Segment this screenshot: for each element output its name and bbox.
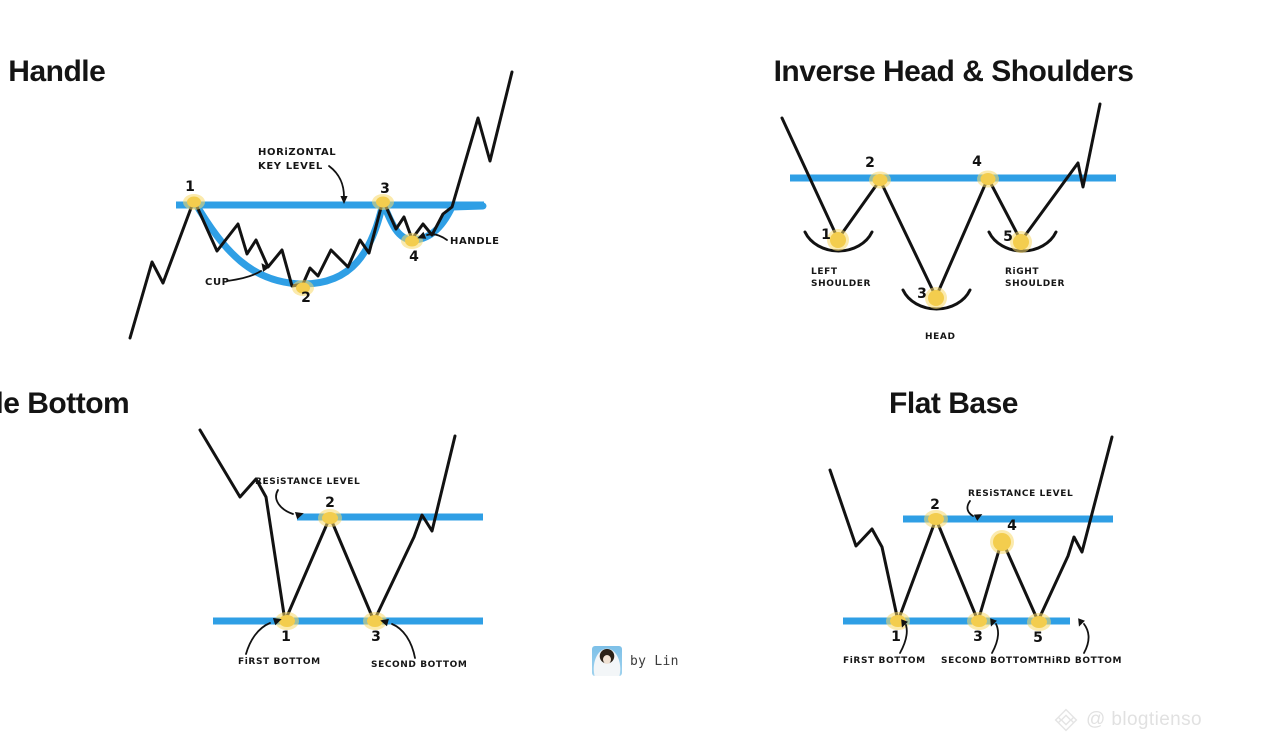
annotation-arrow-resistance bbox=[967, 501, 973, 516]
annotation-resistance-level-label: RESiSTANCE LEVEL bbox=[255, 477, 360, 487]
panel-title-double-bottom: Double Bottom bbox=[0, 387, 345, 421]
point-label-4: 4 bbox=[972, 154, 982, 170]
point-label-3: 3 bbox=[973, 629, 983, 645]
point-label-5: 5 bbox=[1003, 229, 1013, 245]
watermark: @ blogtienso bbox=[1053, 707, 1202, 733]
annotation-horizontal-key-level-line1: HORiZONTAL bbox=[258, 147, 336, 158]
point-label-2: 2 bbox=[301, 290, 311, 306]
chart-double-bottom: 1 2 3 RESiSTANCE LEVEL FiRST BOTTOM SECO… bbox=[0, 372, 640, 745]
annotation-third-bottom-label: THiRD BOTTOM bbox=[1037, 656, 1122, 666]
annotation-arrow-key-level bbox=[329, 166, 344, 197]
point-label-3: 3 bbox=[380, 181, 390, 197]
point-label-4: 4 bbox=[1007, 518, 1017, 534]
arrowhead-third-bottom-fb bbox=[1076, 618, 1085, 628]
point-label-3: 3 bbox=[371, 629, 381, 645]
annotation-arrow-second-bottom-fb bbox=[992, 624, 998, 653]
patterns-board: Cup & Handle bbox=[0, 0, 1267, 745]
point-label-4: 4 bbox=[409, 249, 419, 265]
point-label-1: 1 bbox=[185, 179, 195, 195]
annotation-cup-label: CUP bbox=[205, 277, 230, 288]
annotation-arrow-second-bottom bbox=[392, 624, 415, 658]
credit-block: by Lin bbox=[592, 646, 679, 676]
annotation-resistance-level-label: RESiSTANCE LEVEL bbox=[968, 489, 1073, 499]
user-avatar-icon bbox=[592, 646, 622, 676]
annotation-first-bottom-label: FiRST BOTTOM bbox=[843, 656, 926, 666]
annotation-head-label: HEAD bbox=[925, 332, 956, 342]
panel-title-cup-and-handle: Cup & Handle bbox=[0, 55, 330, 89]
panel-title-inverse-head-and-shoulders: Inverse Head & Shoulders bbox=[640, 55, 1267, 89]
diamond-logo-icon bbox=[1053, 707, 1079, 733]
point-label-1: 1 bbox=[891, 629, 901, 645]
panel-inverse-head-and-shoulders: Inverse Head & Shoulders bbox=[640, 0, 1267, 372]
panel-flat-base: Flat Base 1 2 bbox=[640, 372, 1267, 745]
annotation-handle-label: HANDLE bbox=[450, 236, 500, 247]
point-label-5: 5 bbox=[1033, 630, 1043, 646]
annotation-second-bottom-label: SECOND BOTTOM bbox=[941, 656, 1037, 666]
point-label-2: 2 bbox=[865, 155, 875, 171]
annotation-arrow-first-bottom bbox=[246, 623, 270, 654]
panel-title-flat-base: Flat Base bbox=[640, 387, 1267, 421]
price-line bbox=[830, 437, 1112, 621]
point-label-1: 1 bbox=[821, 227, 831, 243]
annotation-horizontal-key-level-line2: KEY LEVEL bbox=[258, 161, 323, 172]
annotation-right-shoulder-line2: SHOULDER bbox=[1005, 279, 1065, 289]
panel-double-bottom: Double Bottom 1 2 3 RESiSTANCE LEV bbox=[0, 372, 640, 745]
annotation-arrow-resistance bbox=[276, 490, 293, 514]
point-label-2: 2 bbox=[930, 497, 940, 513]
annotation-arrow-third-bottom-fb bbox=[1084, 624, 1089, 653]
annotation-left-shoulder-line2: SHOULDER bbox=[811, 279, 871, 289]
annotation-right-shoulder-line1: RiGHT bbox=[1005, 267, 1039, 277]
point-label-3: 3 bbox=[917, 286, 927, 302]
point-markers bbox=[886, 510, 1051, 631]
chart-flat-base: 1 2 3 4 5 RESiSTANCE LEVEL FiRST BOTTOM … bbox=[640, 372, 1267, 745]
annotation-second-bottom-label: SECOND BOTTOM bbox=[371, 660, 467, 670]
annotation-first-bottom-label: FiRST BOTTOM bbox=[238, 657, 321, 667]
point-label-2: 2 bbox=[325, 495, 335, 511]
watermark-text: @ blogtienso bbox=[1086, 709, 1202, 731]
credit-text: by Lin bbox=[630, 654, 679, 669]
panel-cup-and-handle: Cup & Handle bbox=[0, 0, 640, 372]
point-label-1: 1 bbox=[281, 629, 291, 645]
annotation-left-shoulder-line1: LEFT bbox=[811, 267, 838, 277]
